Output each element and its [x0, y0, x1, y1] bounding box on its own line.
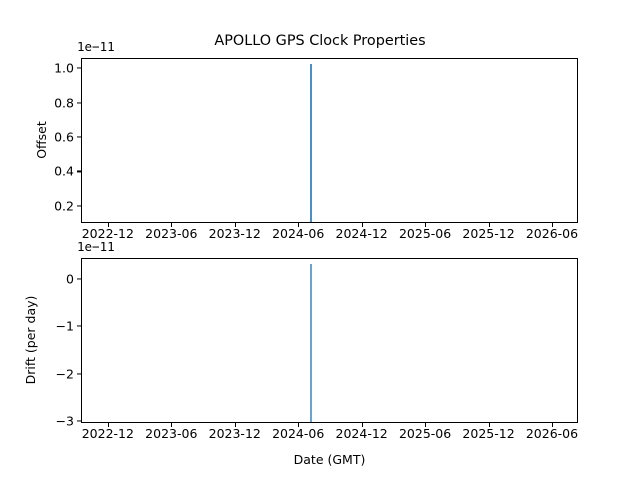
drift-x-tick-label: 2025-12 [462, 426, 514, 441]
offset-x-tick-label: 2023-12 [209, 226, 261, 241]
drift-x-tick-label: 2024-12 [336, 426, 388, 441]
offset-y-tick-label: 0.4 [6, 165, 74, 178]
offset-x-tick-label: 2026-06 [526, 226, 578, 241]
drift-y-tick-label: 0 [6, 273, 74, 286]
offset-x-tick-label: 2025-12 [462, 226, 514, 241]
drift-x-tick-label: 2023-12 [209, 426, 261, 441]
offset-y-tick-label: 0.8 [6, 96, 74, 109]
drift-plot-area [81, 258, 578, 423]
drift-y-tick-label: −1 [6, 320, 74, 333]
offset-x-tick-label: 2025-06 [399, 226, 451, 241]
drift-y-tick-label: −2 [6, 367, 74, 380]
offset-axis-exponent-label: 1e−11 [77, 40, 115, 54]
offset-x-tick-label: 2024-06 [272, 226, 324, 241]
drift-x-tick-labels: 2022-122023-062023-122024-062024-122025-… [81, 426, 578, 442]
offset-plot-area [81, 58, 578, 223]
drift-x-tick-label: 2024-06 [272, 426, 324, 441]
drift-data-line [310, 264, 311, 422]
offset-x-tick-labels: 2022-122023-062023-122024-062024-122025-… [81, 226, 578, 242]
drift-y-tick-label: −3 [6, 414, 74, 427]
offset-x-tick-label: 2023-06 [145, 226, 197, 241]
offset-y-tick-label: 0.6 [6, 131, 74, 144]
offset-y-tick-labels: 0.20.40.60.81.0 [6, 58, 74, 223]
drift-y-tick-labels: 0−1−2−3 [6, 258, 74, 423]
drift-x-tick-label: 2023-06 [145, 426, 197, 441]
offset-x-tick-label: 2024-12 [336, 226, 388, 241]
matplotlib-figure: APOLLO GPS Clock Properties 1e−11 Offset… [0, 0, 640, 480]
drift-x-tick-label: 2025-06 [399, 426, 451, 441]
drift-axis-exponent-label: 1e−11 [77, 240, 115, 254]
offset-y-tick-label: 1.0 [6, 62, 74, 75]
drift-x-tick-label: 2026-06 [526, 426, 578, 441]
x-axis-label: Date (GMT) [81, 452, 578, 467]
drift-x-tick-label: 2022-12 [82, 426, 134, 441]
offset-y-tick-label: 0.2 [6, 199, 74, 212]
offset-data-line [310, 64, 312, 223]
